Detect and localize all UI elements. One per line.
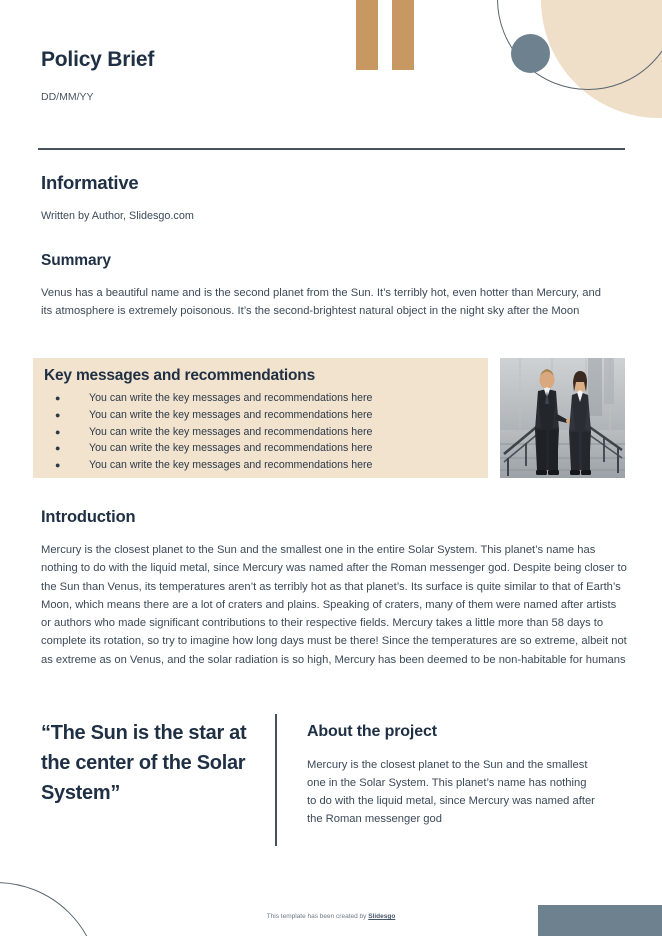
key-messages-box: Key messages and recommendations ● You c… <box>33 358 488 478</box>
tan-bar-right-decoration <box>392 0 414 70</box>
list-item: ● You can write the key messages and rec… <box>47 424 372 441</box>
ring-outline-bottom-decoration <box>0 882 100 936</box>
tan-bar-left-decoration <box>356 0 378 70</box>
introduction-heading: Introduction <box>41 508 135 527</box>
page-title: Policy Brief <box>41 48 154 72</box>
summary-heading: Summary <box>41 252 111 270</box>
list-item: ● You can write the key messages and rec… <box>47 440 372 457</box>
footer-text: This template has been created by <box>267 913 369 920</box>
policy-brief-page: Policy Brief DD/MM/YY Informative Writte… <box>0 0 662 936</box>
document-date: DD/MM/YY <box>41 91 154 103</box>
bullet-icon: ● <box>47 457 89 474</box>
list-item-label: You can write the key messages and recom… <box>89 440 372 457</box>
list-item-label: You can write the key messages and recom… <box>89 390 372 407</box>
section-title-informative: Informative <box>41 172 139 194</box>
beige-circle-decoration <box>541 0 662 118</box>
key-messages-list: ● You can write the key messages and rec… <box>47 390 372 474</box>
author-byline: Written by Author, Slidesgo.com <box>41 210 194 222</box>
bullet-icon: ● <box>47 424 89 441</box>
introduction-body: Mercury is the closest planet to the Sun… <box>41 541 627 669</box>
list-item: ● You can write the key messages and rec… <box>47 390 372 407</box>
list-item: ● You can write the key messages and rec… <box>47 457 372 474</box>
list-item-label: You can write the key messages and recom… <box>89 424 372 441</box>
pull-quote: “The Sun is the star at the center of th… <box>41 718 256 808</box>
bullet-icon: ● <box>47 407 89 424</box>
list-item: ● You can write the key messages and rec… <box>47 407 372 424</box>
header-divider <box>38 148 625 150</box>
slate-dot-decoration <box>511 34 550 73</box>
about-body: Mercury is the closest planet to the Sun… <box>307 756 597 828</box>
bullet-icon: ● <box>47 440 89 457</box>
list-item-label: You can write the key messages and recom… <box>89 457 372 474</box>
about-heading: About the project <box>307 723 437 741</box>
page-header: Policy Brief DD/MM/YY <box>41 48 154 103</box>
summary-body: Venus has a beautiful name and is the se… <box>41 284 611 320</box>
bullet-icon: ● <box>47 390 89 407</box>
business-people-photo <box>500 358 625 478</box>
ring-outline-top-decoration <box>497 0 662 90</box>
footer: This template has been created by Slides… <box>0 913 662 920</box>
list-item-label: You can write the key messages and recom… <box>89 407 372 424</box>
key-messages-heading: Key messages and recommendations <box>44 367 315 385</box>
slate-corner-rectangle-decoration <box>538 905 662 936</box>
quote-about-divider <box>275 714 277 846</box>
slidesgo-link[interactable]: Slidesgo <box>368 913 395 920</box>
